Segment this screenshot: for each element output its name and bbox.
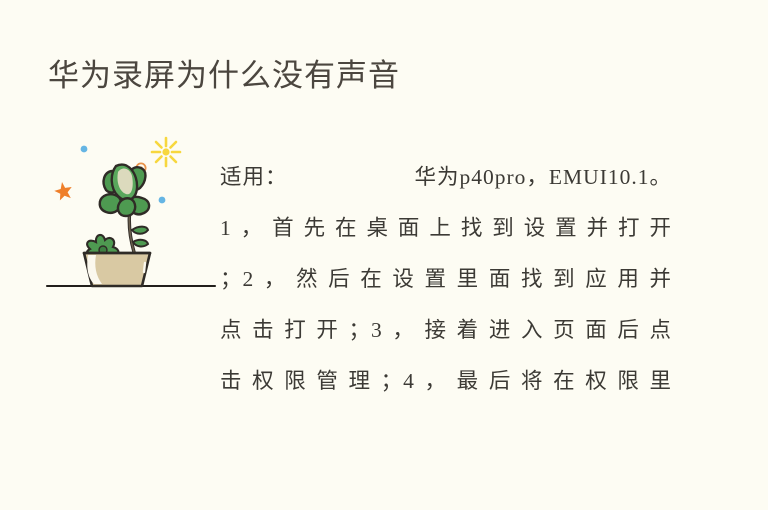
body-line: 点击打开；3，接着进入页面后点	[220, 305, 672, 356]
flower-pot	[84, 253, 150, 286]
potted-plant-illustration	[44, 126, 218, 302]
body-line: 1，首先在桌面上找到设置并打开	[220, 203, 672, 254]
body-line: ；2，然后在设置里面找到应用并	[220, 254, 672, 305]
blue-dot-icon	[159, 197, 166, 204]
cactus-head	[100, 165, 149, 216]
body-line-part: 华为p40pro，EMUI10.1。	[415, 152, 672, 203]
page-title: 华为录屏为什么没有声音	[48, 56, 400, 96]
yellow-sparkle-icon	[152, 138, 180, 166]
body-line: 适用： 华为p40pro，EMUI10.1。	[220, 152, 672, 203]
article-body: 适用： 华为p40pro，EMUI10.1。 1，首先在桌面上找到设置并打开 ；…	[220, 152, 672, 407]
blue-dot-icon	[81, 146, 88, 153]
orange-star-icon	[54, 182, 71, 200]
body-line-part: 适用：	[220, 152, 288, 203]
body-line: 击权限管理；4，最后将在权限里	[220, 356, 672, 407]
stem-side-leaves	[132, 227, 148, 247]
article-card: 华为录屏为什么没有声音	[0, 0, 768, 510]
